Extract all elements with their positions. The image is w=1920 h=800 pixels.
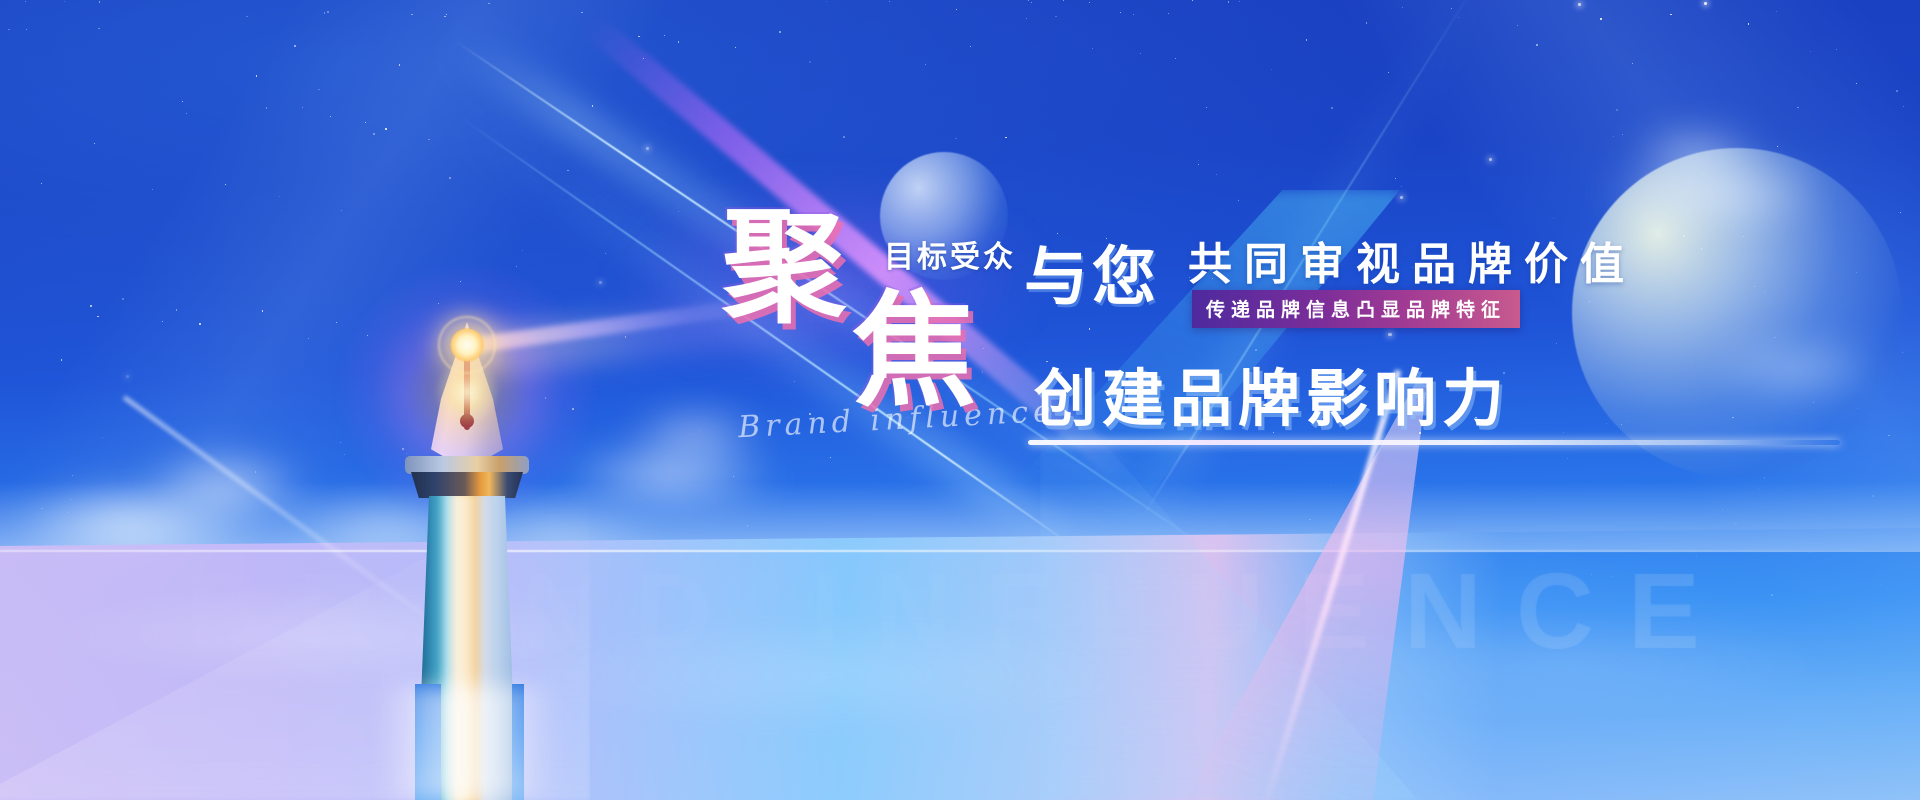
light-wedge-left bbox=[0, 470, 590, 800]
white-ray-left bbox=[123, 396, 473, 652]
lighthouse-base-bar-right bbox=[512, 684, 524, 800]
headline-char-jiao: 焦 bbox=[852, 290, 976, 414]
watermark-text: BRAND INFLUENCE bbox=[0, 548, 1920, 673]
pen-nib-lighthouse bbox=[377, 286, 557, 800]
subject-label: 目标受众 bbox=[884, 232, 1016, 276]
ground-wave-2 bbox=[420, 590, 1240, 760]
banner-canvas: BRAND INFLUENCE Brand influence 聚 焦 目标受众… bbox=[0, 0, 1920, 800]
tagline-badge: 传递品牌信息凸显品牌特征 bbox=[1192, 290, 1520, 328]
lighthouse-collar-bottom bbox=[411, 472, 523, 498]
cloud-left-3 bbox=[250, 486, 520, 578]
lighthouse-tower bbox=[417, 496, 517, 800]
light-pane-top-left bbox=[0, 0, 815, 800]
pen-nib-slit bbox=[464, 338, 470, 430]
lighthouse-base-bar-left bbox=[415, 684, 441, 800]
lighthouse-base-glow bbox=[377, 686, 557, 800]
beacon-glow bbox=[337, 262, 597, 522]
headline-block: Brand influence 聚 焦 目标受众 与您 共同审视品牌价值 传递品… bbox=[722, 212, 1882, 512]
cloud-left-large bbox=[0, 468, 300, 588]
ground-wave-1 bbox=[0, 560, 700, 710]
headline-line-1: 共同审视品牌价值 bbox=[1188, 228, 1636, 292]
ground-wave-3 bbox=[1180, 590, 1920, 740]
with-you-text: 与您 bbox=[1024, 226, 1160, 318]
beacon-ring bbox=[438, 316, 496, 374]
headline-char-ju: 聚 bbox=[722, 206, 846, 330]
ground-plane bbox=[0, 528, 1920, 800]
cloud-left-4 bbox=[430, 498, 690, 574]
pen-nib-hole bbox=[460, 414, 474, 428]
headline-underline bbox=[1028, 440, 1840, 445]
pen-nib-icon bbox=[417, 322, 517, 470]
light-beam-lower-left bbox=[0, 523, 399, 800]
headline-line-2: 创建品牌影响力 bbox=[1034, 348, 1510, 438]
cloud-top-right-2 bbox=[1600, 118, 1790, 188]
horizon-line bbox=[0, 550, 1920, 552]
beacon-light bbox=[450, 328, 484, 362]
lighthouse-collar-top bbox=[405, 456, 529, 474]
lighthouse-tower-highlight bbox=[421, 496, 513, 800]
cloud-left-2 bbox=[110, 438, 340, 534]
